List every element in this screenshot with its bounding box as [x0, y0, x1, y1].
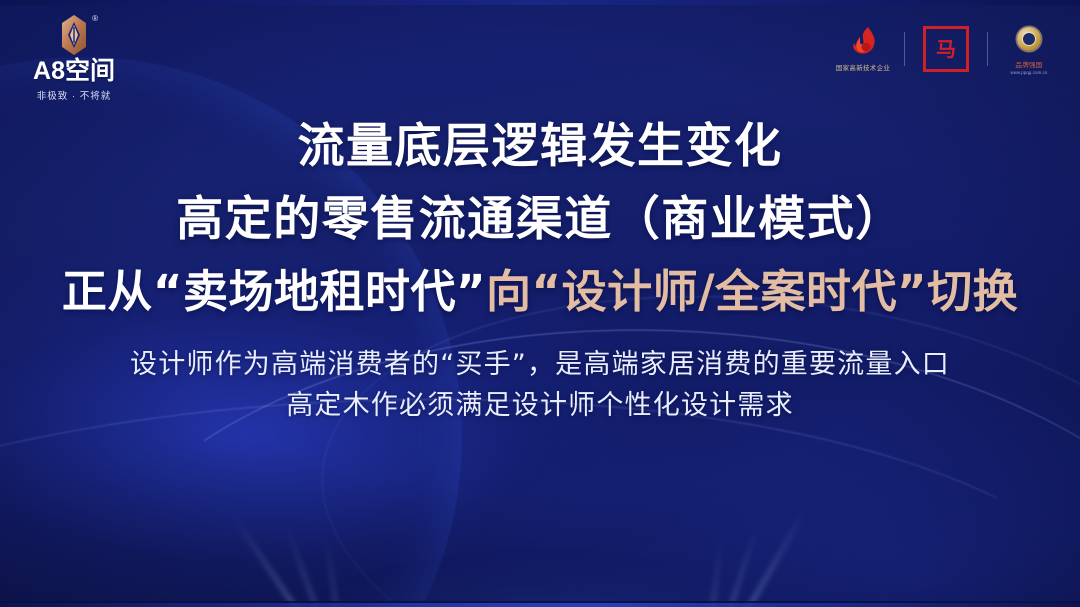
badge-divider [904, 32, 905, 66]
slide-content: 流量底层逻辑发生变化 高定的零售流通渠道（商业模式） 正从“卖场地租时代”向“设… [0, 118, 1080, 427]
badge-caption: 品牌强国 [1015, 59, 1042, 69]
headline-line-2: 高定的零售流通渠道（商业模式） [0, 191, 1080, 248]
registered-trademark-icon: ® [92, 15, 98, 23]
badge-brand-power-nation: 品牌强国 www.ppqg.com.cn [992, 22, 1066, 75]
headline-line-3-accent: 向“设计师/全案时代”切换 [486, 265, 1018, 318]
red-flame-torch-icon [848, 25, 878, 59]
badge-subcaption: www.ppqg.com.cn [1011, 70, 1048, 75]
subtitle-line-1: 设计师作为高端消费者的“买手”，是高端家居消费的重要流量入口 [0, 344, 1080, 386]
subtitle-block: 设计师作为高端消费者的“买手”，是高端家居消费的重要流量入口 高定木作必须满足设… [0, 344, 1080, 428]
a8-hexagon-emblem-icon: ® [59, 14, 89, 56]
presentation-slide: ® A8空间 非极致 · 不将就 国家高新技术企业 马 [0, 0, 1080, 607]
brand-tagline: 非极致 · 不将就 [14, 88, 134, 102]
brand-logo: ® A8空间 非极致 · 不将就 [14, 14, 134, 102]
top-border-strip [0, 0, 1080, 5]
headline-line-1: 流量底层逻辑发生变化 [0, 118, 1080, 175]
brand-name: A8空间 [14, 58, 134, 84]
badge-high-tech-enterprise: 国家高新技术企业 [826, 25, 900, 72]
subtitle-line-2: 高定木作必须满足设计师个性化设计需求 [0, 385, 1080, 427]
seal-glyph: 马 [936, 39, 956, 59]
badge-caption: 国家高新技术企业 [836, 62, 890, 72]
gold-circular-emblem-icon [1017, 22, 1041, 56]
badge-red-seal: 马 [909, 32, 983, 66]
red-square-seal-icon: 马 [923, 32, 969, 66]
headline-line-3-primary: 正从“卖场地租时代” [62, 265, 486, 318]
badge-divider [987, 32, 988, 66]
bottom-border-strip [0, 603, 1080, 607]
headline-line-3: 正从“卖场地租时代”向“设计师/全案时代”切换 [0, 265, 1080, 320]
certification-badges: 国家高新技术企业 马 品牌强国 www.ppqg.com.cn [826, 22, 1066, 75]
